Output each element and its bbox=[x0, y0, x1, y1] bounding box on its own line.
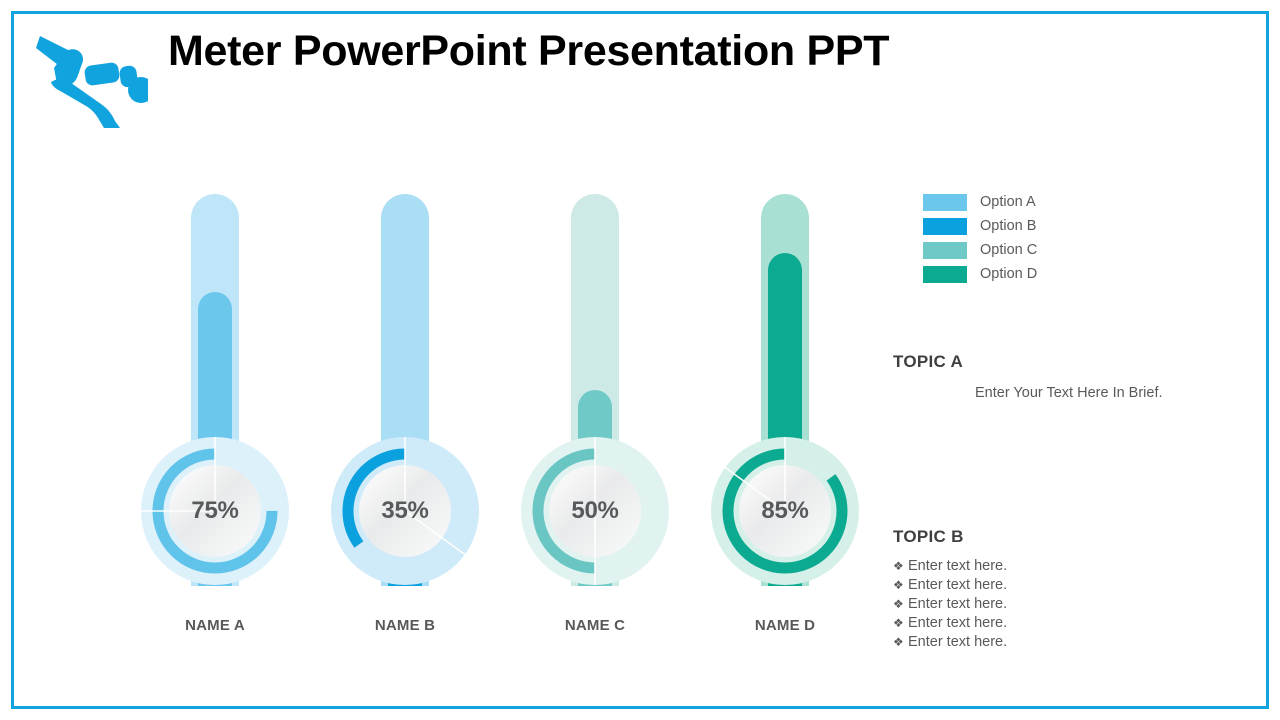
legend-label: Option A bbox=[980, 194, 1036, 210]
meter-bulb[interactable]: 35% bbox=[325, 431, 485, 591]
topic-a-block: TOPIC A Enter Your Text Here In Brief. bbox=[893, 352, 1213, 401]
bullet-icon: ❖ bbox=[893, 557, 908, 576]
legend-swatch bbox=[923, 266, 967, 283]
legend-swatch bbox=[923, 218, 967, 235]
topic-b-list: ❖Enter text here.❖Enter text here.❖Enter… bbox=[893, 557, 1213, 652]
meter-category-label: NAME A bbox=[120, 617, 310, 634]
list-item-label: Enter text here. bbox=[908, 557, 1007, 576]
list-item-label: Enter text here. bbox=[908, 633, 1007, 652]
legend-swatch bbox=[923, 242, 967, 259]
topic-a-body: Enter Your Text Here In Brief. bbox=[975, 385, 1213, 401]
bullet-icon: ❖ bbox=[893, 614, 908, 633]
bullet-icon: ❖ bbox=[893, 633, 908, 652]
meter-category-label: NAME C bbox=[500, 617, 690, 634]
bullet-icon: ❖ bbox=[893, 576, 908, 595]
list-item-label: Enter text here. bbox=[908, 576, 1007, 595]
meter-category-label: NAME B bbox=[310, 617, 500, 634]
list-item: ❖Enter text here. bbox=[893, 595, 1213, 614]
topic-b-heading: TOPIC B bbox=[893, 527, 1213, 547]
bullet-icon: ❖ bbox=[893, 595, 908, 614]
list-item-label: Enter text here. bbox=[908, 595, 1007, 614]
slide-canvas: Meter PowerPoint Presentation PPT 75%NAM… bbox=[0, 0, 1280, 720]
legend-label: Option D bbox=[980, 266, 1037, 282]
legend: Option AOption BOption COption D bbox=[923, 190, 1143, 286]
meter-gauge[interactable]: 35%NAME B bbox=[310, 186, 500, 646]
legend-label: Option C bbox=[980, 242, 1037, 258]
scuba-diver-icon bbox=[28, 28, 148, 128]
list-item-label: Enter text here. bbox=[908, 614, 1007, 633]
meter-category-label: NAME D bbox=[690, 617, 880, 634]
legend-label: Option B bbox=[980, 218, 1036, 234]
legend-item[interactable]: Option A bbox=[923, 190, 1143, 214]
legend-item[interactable]: Option C bbox=[923, 238, 1143, 262]
meter-bulb[interactable]: 85% bbox=[705, 431, 865, 591]
list-item: ❖Enter text here. bbox=[893, 614, 1213, 633]
legend-item[interactable]: Option B bbox=[923, 214, 1143, 238]
page-title: Meter PowerPoint Presentation PPT bbox=[168, 27, 1168, 76]
meter-gauge[interactable]: 85%NAME D bbox=[690, 186, 880, 646]
list-item: ❖Enter text here. bbox=[893, 633, 1213, 652]
list-item: ❖Enter text here. bbox=[893, 557, 1213, 576]
meter-bulb[interactable]: 75% bbox=[135, 431, 295, 591]
meter-gauge[interactable]: 50%NAME C bbox=[500, 186, 690, 646]
topic-b-block: TOPIC B ❖Enter text here.❖Enter text her… bbox=[893, 527, 1213, 652]
meter-chart: 75%NAME A35%NAME B50%NAME C85%NAME D bbox=[120, 186, 880, 646]
topic-a-heading: TOPIC A bbox=[893, 352, 1213, 372]
meter-gauge[interactable]: 75%NAME A bbox=[120, 186, 310, 646]
meter-bulb[interactable]: 50% bbox=[515, 431, 675, 591]
list-item: ❖Enter text here. bbox=[893, 576, 1213, 595]
legend-swatch bbox=[923, 194, 967, 211]
legend-item[interactable]: Option D bbox=[923, 262, 1143, 286]
